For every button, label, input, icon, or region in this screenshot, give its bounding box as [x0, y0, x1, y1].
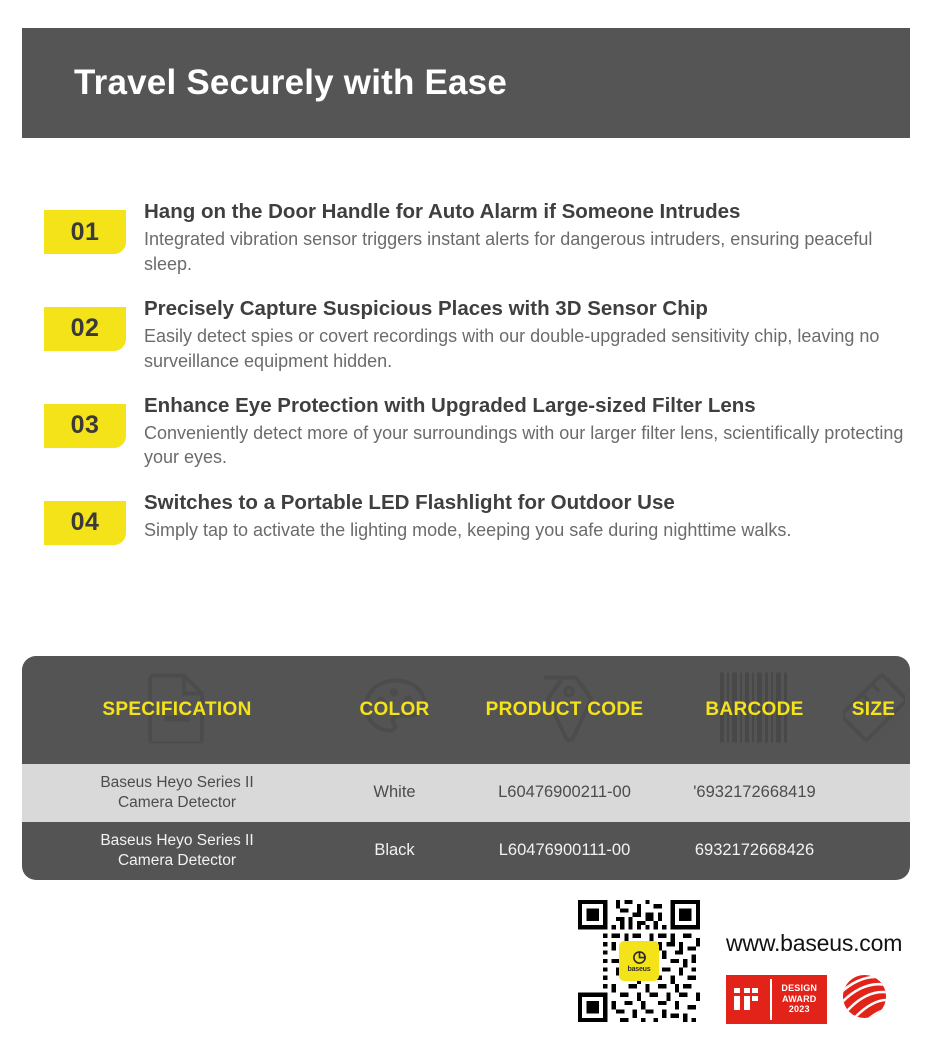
banner-pointer-triangle	[83, 110, 127, 132]
header-banner: Travel Securely with Ease	[22, 28, 910, 138]
feature-number-badge: 03	[44, 404, 126, 448]
feature-number: 01	[71, 218, 100, 247]
table-header-cell-product-code: PRODUCT CODE	[457, 699, 672, 721]
feature-text-block: Hang on the Door Handle for Auto Alarm i…	[126, 198, 904, 276]
feature-description: Simply tap to activate the lighting mode…	[144, 518, 904, 542]
if-award-line2: AWARD	[782, 994, 817, 1004]
cell-barcode: '6932172668419	[672, 782, 837, 803]
feature-title: Enhance Eye Protection with Upgraded Lar…	[144, 392, 904, 419]
feature-text-block: Precisely Capture Suspicious Places with…	[126, 295, 904, 373]
feature-list: 01 Hang on the Door Handle for Auto Alar…	[44, 198, 904, 564]
website-url: www.baseus.com	[726, 930, 902, 957]
table-header-cell-barcode: BARCODE	[672, 699, 837, 721]
table-header-label: COLOR	[359, 699, 429, 720]
table-header-cell-size: SIZE	[837, 699, 910, 721]
page-title: Travel Securely with Ease	[74, 63, 507, 103]
red-dot-sphere-logo	[840, 972, 889, 1026]
feature-description: Integrated vibration sensor triggers ins…	[144, 227, 904, 276]
feature-item: 02 Precisely Capture Suspicious Places w…	[44, 295, 904, 373]
qr-code: baseus	[578, 900, 700, 1022]
table-header-cell-color: COLOR	[332, 699, 457, 721]
specification-table: SPECIFICATION COLOR	[22, 656, 910, 880]
cell-product-code: L60476900211-00	[457, 782, 672, 803]
table-header-label: BARCODE	[705, 699, 803, 720]
feature-item: 03 Enhance Eye Protection with Upgraded …	[44, 392, 904, 470]
table-header-cell-specification: SPECIFICATION	[22, 699, 332, 721]
if-award-text: DESIGN AWARD 2023	[772, 983, 828, 1015]
feature-text-block: Switches to a Portable LED Flashlight fo…	[126, 489, 904, 543]
cell-specification: Baseus Heyo Series II Camera Detector	[22, 773, 332, 813]
awards-row: DESIGN AWARD 2023	[726, 972, 889, 1026]
feature-number: 04	[71, 508, 100, 537]
feature-number: 03	[71, 411, 100, 440]
baseus-mark-icon	[632, 950, 647, 965]
if-award-line1: DESIGN	[781, 983, 817, 993]
feature-text-block: Enhance Eye Protection with Upgraded Lar…	[126, 392, 904, 470]
feature-title: Switches to a Portable LED Flashlight fo…	[144, 489, 904, 516]
qr-center-logo: baseus	[619, 941, 659, 981]
if-logo-icon	[726, 985, 770, 1013]
feature-item: 01 Hang on the Door Handle for Auto Alar…	[44, 198, 904, 276]
feature-title: Hang on the Door Handle for Auto Alarm i…	[144, 198, 904, 225]
cell-product-code: L60476900111-00	[457, 840, 672, 861]
feature-number: 02	[71, 314, 100, 343]
if-design-award-badge: DESIGN AWARD 2023	[726, 975, 827, 1024]
table-header-row: SPECIFICATION COLOR	[22, 656, 910, 764]
feature-item: 04 Switches to a Portable LED Flashlight…	[44, 489, 904, 545]
product-infographic-page: Travel Securely with Ease 01 Hang on the…	[0, 0, 930, 1050]
if-award-line3: 2023	[789, 1004, 810, 1014]
cell-barcode: 6932172668426	[672, 840, 837, 861]
table-row: Baseus Heyo Series II Camera Detector Wh…	[22, 764, 910, 822]
feature-description: Conveniently detect more of your surroun…	[144, 421, 904, 470]
cell-color: Black	[332, 840, 457, 861]
feature-number-badge: 01	[44, 210, 126, 254]
feature-number-badge: 02	[44, 307, 126, 351]
feature-title: Precisely Capture Suspicious Places with…	[144, 295, 904, 322]
table-header-label: SIZE	[852, 699, 895, 720]
table-row: Baseus Heyo Series II Camera Detector Bl…	[22, 822, 910, 880]
table-header-label: SPECIFICATION	[102, 699, 251, 720]
feature-number-badge: 04	[44, 501, 126, 545]
table-header-label: PRODUCT CODE	[486, 699, 644, 720]
feature-description: Easily detect spies or covert recordings…	[144, 324, 904, 373]
banner-bar: Travel Securely with Ease	[22, 28, 910, 138]
cell-color: White	[332, 782, 457, 803]
qr-logo-label: baseus	[628, 966, 651, 973]
footer-block: baseus www.baseus.com D	[578, 900, 898, 1030]
cell-specification: Baseus Heyo Series II Camera Detector	[22, 831, 332, 871]
